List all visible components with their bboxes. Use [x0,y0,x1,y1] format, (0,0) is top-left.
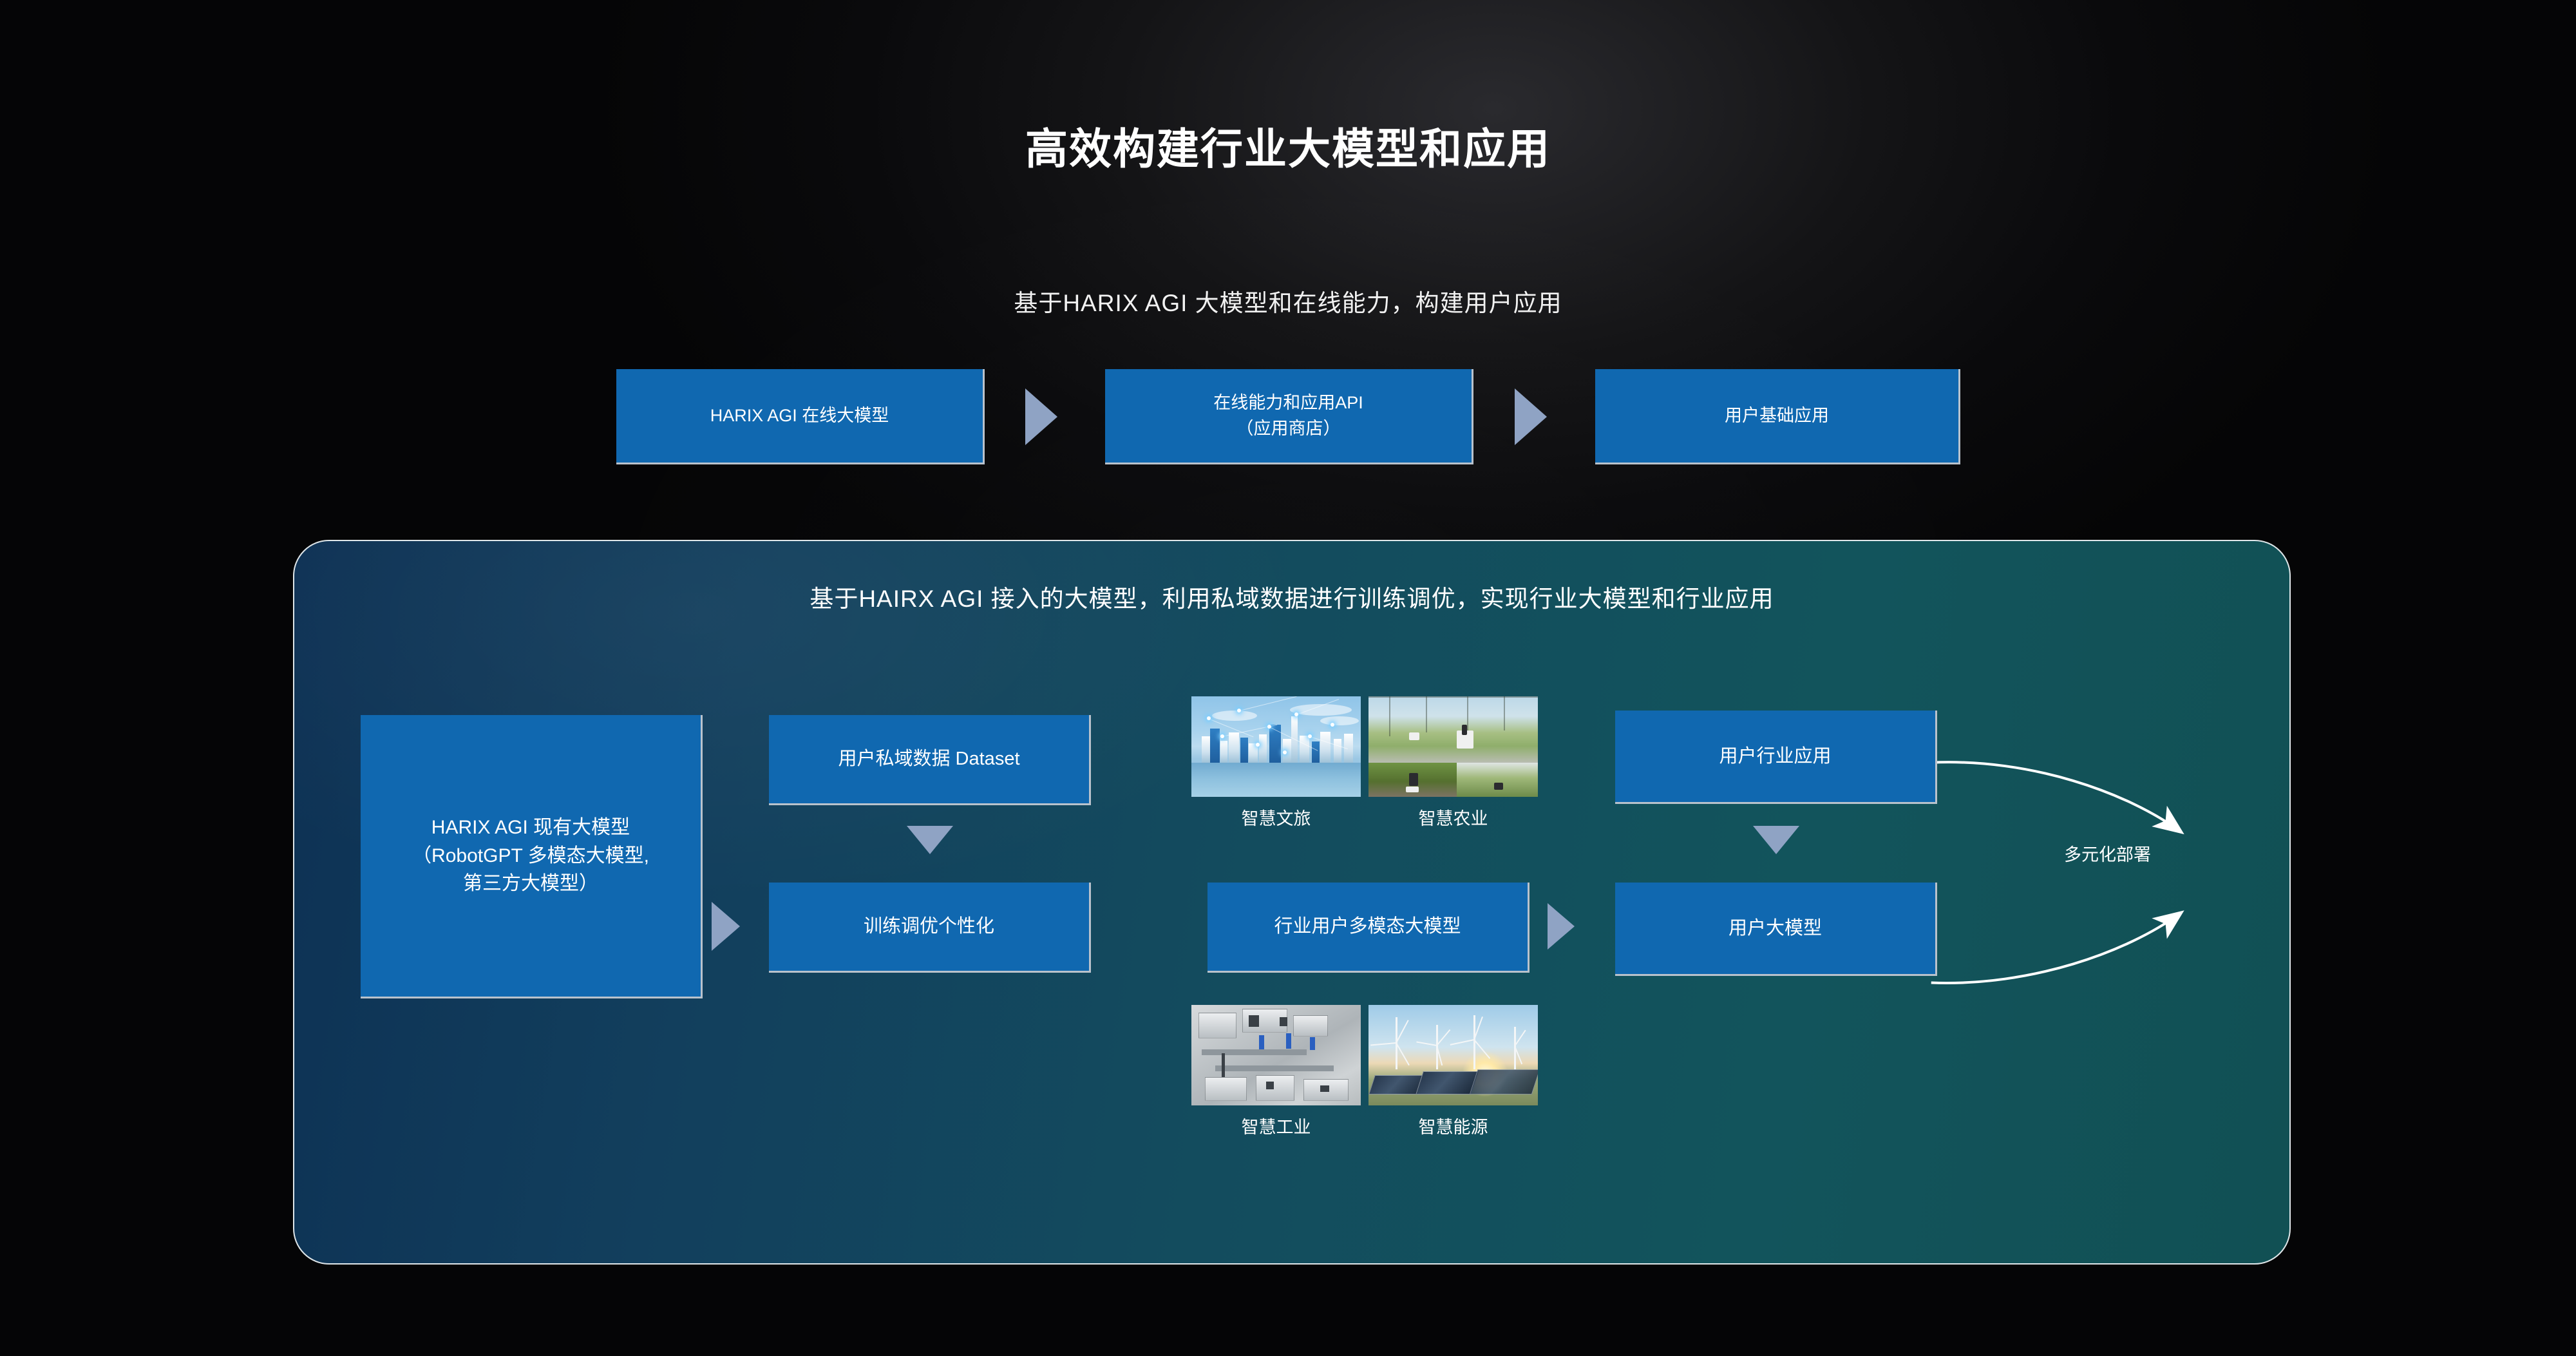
model-to-output-arrow-icon [1548,903,1575,950]
industry-thumb-smart-agriculture[interactable]: 智慧农业 [1368,696,1538,830]
industry-app-box[interactable]: 用户行业应用 [1615,711,1937,804]
dataset-to-training-arrow-icon [907,826,953,854]
training-box[interactable]: 训练调优个性化 [769,883,1091,973]
industry-model-box[interactable]: 行业用户多模态大模型 [1207,883,1529,973]
industry-thumb-smart-city[interactable]: 智慧文旅 [1191,696,1361,830]
top-flow-step-1[interactable]: HARIX AGI 在线大模型 [616,369,985,464]
dataset-box[interactable]: 用户私域数据 Dataset [769,715,1091,805]
dataset-box-label: 用户私域数据 Dataset [829,745,1029,772]
user-model-box-label: 用户大模型 [1719,915,1831,942]
industry-model-box-label: 行业用户多模态大模型 [1265,913,1470,940]
smart-agriculture-image [1368,696,1538,797]
top-flow-arrow-1-icon [1025,388,1057,445]
training-box-label: 训练调优个性化 [855,913,1003,940]
top-flow-step-2-label: 在线能力和应用API （应用商店） [1204,390,1372,441]
smart-industry-image [1191,1005,1361,1105]
top-flow-step-1-label: HARIX AGI 在线大模型 [701,403,898,428]
source-model-box-main[interactable]: HARIX AGI 现有大模型 （RobotGPT 多模态大模型, 第三方大模型… [361,715,703,998]
top-flow-step-3-label: 用户基础应用 [1716,403,1838,428]
industry-thumb-smart-energy-caption: 智慧能源 [1368,1113,1538,1138]
industry-thumb-smart-industry[interactable]: 智慧工业 [1191,1005,1361,1138]
page-title: 高效构建行业大模型和应用 [0,115,2576,177]
top-flow-subtitle: 基于HARIX AGI 大模型和在线能力，构建用户应用 [0,283,2576,318]
source-to-dataset-arrow-icon [712,902,740,951]
industry-thumb-smart-city-caption: 智慧文旅 [1191,805,1361,830]
panel-heading: 基于HAIRX AGI 接入的大模型，利用私域数据进行训练调优，实现行业大模型和… [294,579,2289,614]
top-flow-step-2[interactable]: 在线能力和应用API （应用商店） [1105,369,1473,464]
smart-city-image [1191,696,1361,797]
industry-thumb-smart-energy[interactable]: 智慧能源 [1368,1005,1538,1138]
app-to-model-arrow-icon [1753,826,1799,854]
deploy-label: 多元化部署 [2064,841,2151,866]
user-model-box[interactable]: 用户大模型 [1615,883,1937,976]
smart-energy-image [1368,1005,1538,1105]
industry-app-box-label: 用户行业应用 [1710,743,1840,770]
industry-thumb-smart-agriculture-caption: 智慧农业 [1368,805,1538,830]
source-model-box-label: HARIX AGI 现有大模型 （RobotGPT 多模态大模型, 第三方大模型… [403,814,658,898]
top-flow-arrow-2-icon [1515,388,1547,445]
top-flow-step-3[interactable]: 用户基础应用 [1595,369,1960,464]
industry-thumb-smart-industry-caption: 智慧工业 [1191,1113,1361,1138]
